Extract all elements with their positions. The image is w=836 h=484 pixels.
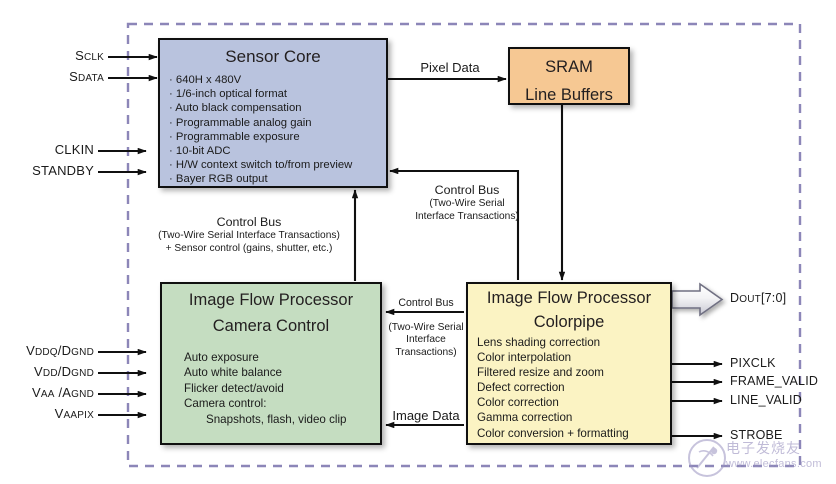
ctrl-sensor-line1: Control Bus: [118, 216, 380, 229]
list-item: · Auto black compensation: [169, 101, 386, 115]
list-item: Lens shading correction: [477, 335, 670, 350]
pin-label-vaa-agnd: VAA /AGND: [0, 385, 94, 400]
camera-control-title-line2: Camera Control: [162, 310, 380, 336]
sensor-core-feature-list: · 640H x 480V · 1/6-inch optical format …: [169, 73, 386, 187]
ctrl-colorpipe-line1: Control Bus: [400, 184, 534, 197]
connector-label-image-data: Image Data: [384, 408, 468, 423]
ctrl-mid-line2: (Two-Wire Serial: [384, 322, 468, 334]
list-item: Auto exposure: [184, 350, 380, 365]
list-item-sub: Snapshots, flash, video clip: [184, 412, 380, 427]
list-item: Color conversion + formatting: [477, 426, 670, 441]
pin-label-vaapix: VAAPIX: [0, 406, 94, 421]
sram-title-line1: SRAM: [510, 49, 628, 77]
pin-label-clkin: CLKIN: [0, 142, 94, 157]
list-item: · H/W context switch to/from preview: [169, 158, 386, 172]
pin-label-standby: STANDBY: [0, 163, 94, 178]
pin-label-vddq-dgnd: VDDQ/DGND: [0, 343, 94, 358]
ctrl-colorpipe-line2: (Two-Wire Serial: [400, 197, 534, 210]
connector-label-control-bus-mid-detail: (Two-Wire Serial Interface Transactions): [384, 322, 468, 359]
list-item: · 1/6-inch optical format: [169, 87, 386, 101]
pin-label-sclk: SCLK: [0, 48, 104, 63]
pin-label-sdata: SDATA: [0, 69, 104, 84]
connector-label-control-bus-colorpipe: Control Bus (Two-Wire Serial Interface T…: [400, 184, 534, 223]
pin-label-pixclk: PIXCLK: [730, 356, 776, 370]
list-item: Color correction: [477, 395, 670, 410]
list-item: Gamma correction: [477, 410, 670, 425]
block-ifp-colorpipe[interactable]: Image Flow Processor Colorpipe Lens shad…: [466, 282, 672, 445]
list-item: Defect correction: [477, 380, 670, 395]
list-item: Flicker detect/avoid: [184, 381, 380, 396]
ctrl-colorpipe-line3: Interface Transactions): [400, 210, 534, 223]
pin-label-vdd-dgnd: VDD/DGND: [0, 364, 94, 379]
colorpipe-feature-list: Lens shading correction Color interpolat…: [477, 335, 670, 441]
colorpipe-title-line1: Image Flow Processor: [468, 284, 670, 308]
connector-label-control-bus-mid: Control Bus: [386, 297, 466, 310]
list-item: Filtered resize and zoom: [477, 365, 670, 380]
list-item: Camera control:: [184, 396, 380, 411]
connector-label-control-bus-sensor: Control Bus (Two-Wire Serial Interface T…: [118, 216, 380, 255]
list-item: Color interpolation: [477, 350, 670, 365]
list-item: · Bayer RGB output: [169, 172, 386, 186]
pin-label-line-valid: LINE_VALID: [730, 393, 802, 407]
block-sensor-core[interactable]: Sensor Core · 640H x 480V · 1/6-inch opt…: [158, 38, 388, 188]
diagram-canvas: Sensor Core · 640H x 480V · 1/6-inch opt…: [0, 0, 836, 484]
sensor-core-title: Sensor Core: [160, 40, 386, 66]
list-item: · Programmable analog gain: [169, 116, 386, 130]
watermark: 电子发烧友 www.elecfans.com: [676, 436, 836, 484]
colorpipe-title-line2: Colorpipe: [468, 308, 670, 332]
block-sram-line-buffers[interactable]: SRAM Line Buffers: [508, 47, 630, 105]
watermark-chinese-text: 电子发烧友: [726, 438, 801, 458]
connector-label-pixel-data: Pixel Data: [398, 60, 502, 75]
list-item: · 10-bit ADC: [169, 144, 386, 158]
list-item: · 640H x 480V: [169, 73, 386, 87]
ctrl-sensor-line3: + Sensor control (gains, shutter, etc.): [118, 242, 380, 255]
camera-control-feature-list: Auto exposure Auto white balance Flicker…: [184, 350, 380, 427]
ctrl-mid-line1: Control Bus: [386, 297, 466, 310]
sram-title-line2: Line Buffers: [510, 77, 628, 105]
ctrl-mid-line4: Transactions): [384, 347, 468, 359]
ctrl-sensor-line2: (Two-Wire Serial Interface Transactions): [118, 229, 380, 242]
list-item: · Programmable exposure: [169, 130, 386, 144]
camera-control-title-line1: Image Flow Processor: [162, 284, 380, 310]
block-ifp-camera-control[interactable]: Image Flow Processor Camera Control Auto…: [160, 282, 382, 445]
dout-bus-arrow: [672, 284, 722, 315]
watermark-url-text: www.elecfans.com: [726, 458, 822, 470]
pin-label-frame-valid: FRAME_VALID: [730, 374, 818, 388]
list-item: Auto white balance: [184, 365, 380, 380]
ctrl-mid-line3: Interface: [384, 334, 468, 346]
pin-label-dout: DOUT[7:0]: [730, 291, 786, 305]
